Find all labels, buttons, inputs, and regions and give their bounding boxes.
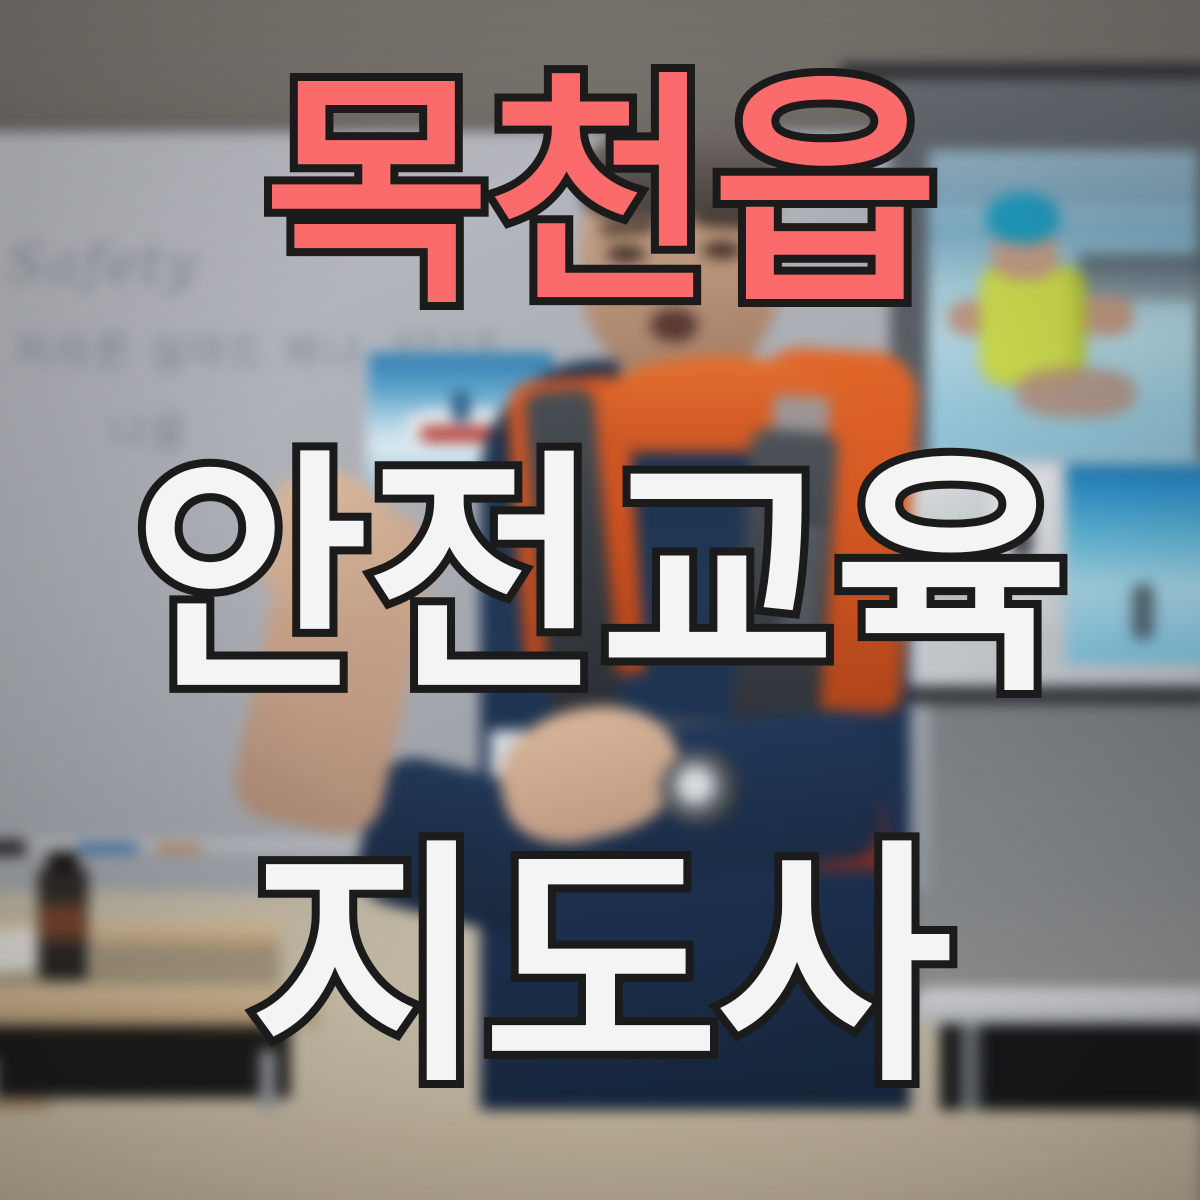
instructor-hair bbox=[582, 122, 778, 218]
whiteboard-handwriting-safety: Safety bbox=[8, 232, 199, 295]
slide-pool-far-edge bbox=[928, 150, 1198, 206]
slide-swimmer-photo bbox=[928, 150, 1198, 460]
slide-swimmer-legs bbox=[1016, 368, 1136, 418]
bottle-label bbox=[40, 906, 86, 940]
projector-screen-frame-bottom bbox=[890, 686, 1200, 704]
classroom-floor-front bbox=[0, 1110, 1200, 1200]
whiteboard-handwriting-korean-2: 나을 bbox=[110, 400, 190, 458]
slide-thumb-3-figure bbox=[1132, 584, 1154, 640]
slide-thumb-2 bbox=[986, 466, 1060, 626]
whiteboard-eraser bbox=[0, 840, 26, 856]
front-desk-right bbox=[910, 988, 1200, 1024]
slide-pool-deck bbox=[1078, 254, 1200, 302]
background-photo: Safety 저라른 실아드 봐나 나을 생존수영 bbox=[0, 0, 1200, 1200]
poster-image: Safety 저라른 실아드 봐나 나을 생존수영 bbox=[0, 0, 1200, 1200]
whiteboard-marker-orange bbox=[156, 844, 202, 853]
front-desk-left bbox=[0, 986, 320, 1026]
slide-swimmer-swim-cap bbox=[986, 192, 1060, 244]
whiteboard-handwriting-korean-1: 저라른 실아드 봐나 bbox=[14, 320, 364, 378]
front-desk-left-underside bbox=[0, 1026, 290, 1098]
instructor-eye-right bbox=[702, 242, 742, 258]
slide-thumb-2-figure bbox=[1012, 496, 1032, 558]
instructor-eye-left bbox=[606, 246, 646, 262]
poster-person-shape bbox=[452, 392, 470, 422]
slide-photo-strip bbox=[890, 460, 1200, 690]
slide-thumb-1-accent bbox=[912, 572, 938, 586]
instructor-mouth bbox=[650, 308, 698, 342]
photo-blur-layer: Safety 저라른 실아드 봐나 나을 생존수영 bbox=[0, 0, 1200, 1200]
whiteboard-marker-blue bbox=[78, 844, 138, 853]
slide-thumb-3 bbox=[1066, 464, 1200, 664]
